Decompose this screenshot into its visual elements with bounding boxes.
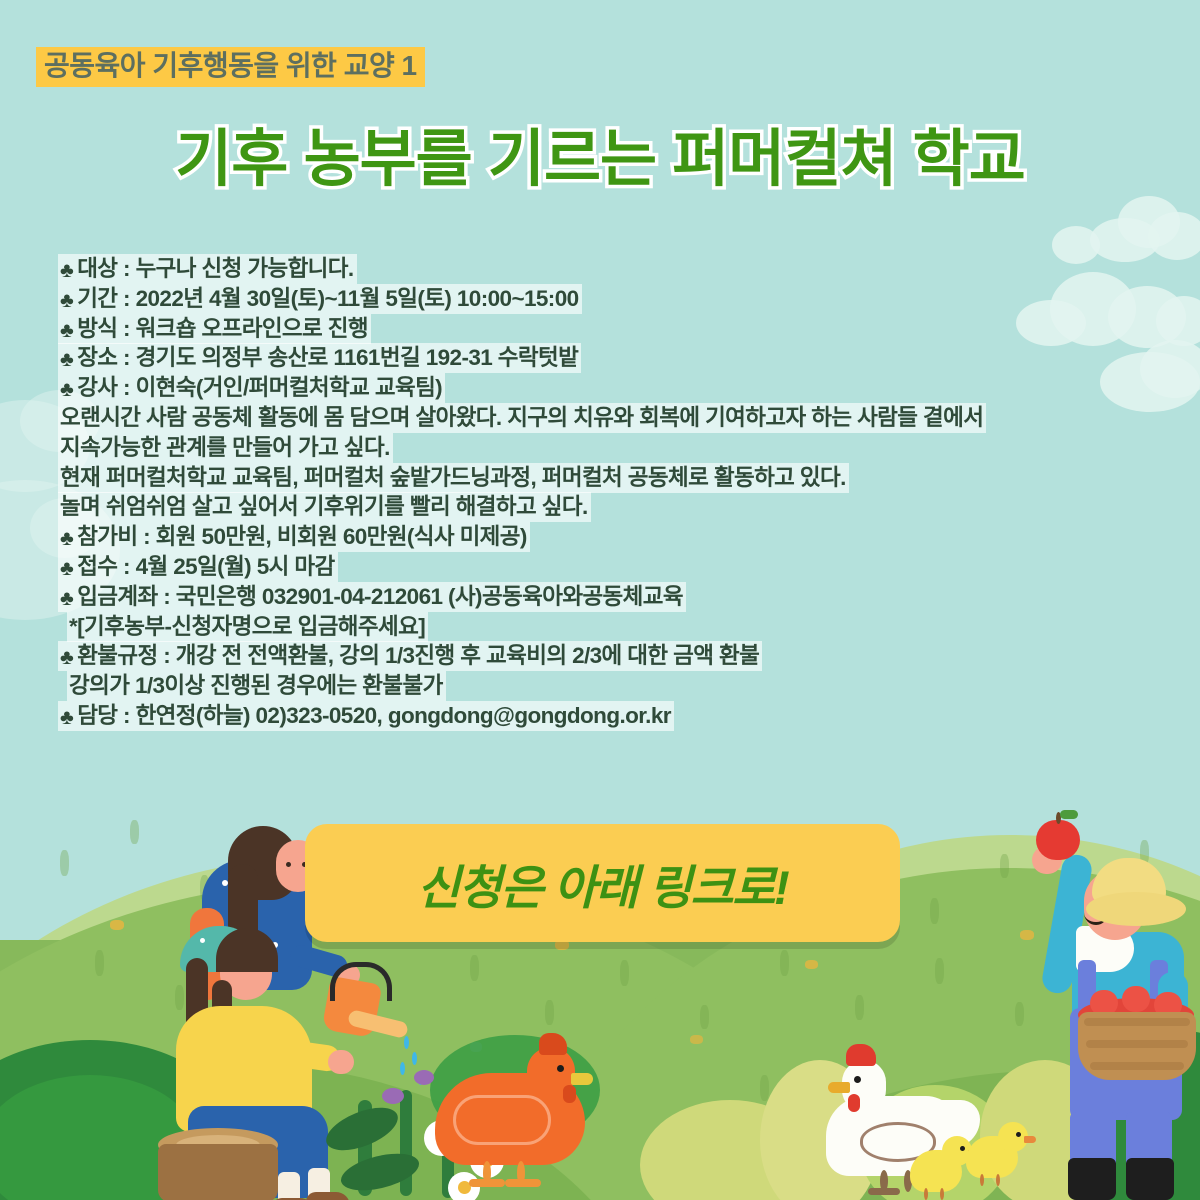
detail-line-text: 강의가 1/3이상 진행된 경우에는 환불불가 <box>69 673 443 698</box>
page-title: 기후 농부를 기르는 퍼머컬쳐 학교 <box>0 108 1200 198</box>
detail-line: ♣장소 : 경기도 의정부 송산로 1161번길 192-31 수락텃밭 <box>58 347 1168 370</box>
club-bullet-icon: ♣ <box>60 290 73 311</box>
detail-line-text: 기간 : 2022년 4월 30일(토)~11월 5일(토) 10:00~15:… <box>77 286 578 311</box>
club-bullet-icon: ♣ <box>60 349 73 370</box>
detail-line-text: 환불규정 : 개강 전 전액환불, 강의 1/3진행 후 교육비의 2/3에 대… <box>77 643 759 668</box>
detail-line-highlight: 현재 퍼머컬처학교 교육팀, 퍼머컬처 숲밭가드닝과정, 퍼머컬처 공동체로 활… <box>58 463 849 493</box>
detail-line-highlight: ♣강사 : 이현숙(거인/퍼머컬처학교 교육팀) <box>58 373 445 403</box>
detail-line-text: *[기후농부-신청자명으로 입금해주세요] <box>69 614 425 639</box>
kicker-label: 공동육아 기후행동을 위한 교양 1 <box>36 47 425 87</box>
illustration-orange-chicken <box>435 1043 610 1188</box>
detail-line: 강의가 1/3이상 진행된 경우에는 환불불가 <box>67 675 1168 698</box>
detail-line: ♣담당 : 한연정(하늘) 02)323-0520, gongdong@gong… <box>58 705 1168 728</box>
club-bullet-icon: ♣ <box>60 320 73 341</box>
detail-line: ♣입금계좌 : 국민은행 032901-04-212061 (사)공동육아와공동… <box>58 586 1168 609</box>
detail-line-text: 접수 : 4월 25일(월) 5시 마감 <box>77 554 334 579</box>
detail-line-highlight: ♣기간 : 2022년 4월 30일(토)~11월 5일(토) 10:00~15… <box>58 284 582 314</box>
detail-line-highlight: *[기후농부-신청자명으로 입금해주세요] <box>67 612 428 642</box>
apply-link-button[interactable]: 신청은 아래 링크로! <box>305 824 900 942</box>
detail-line-highlight: ♣참가비 : 회원 50만원, 비회원 60만원(식사 미제공) <box>58 522 530 552</box>
detail-line: ♣강사 : 이현숙(거인/퍼머컬처학교 교육팀) <box>58 377 1168 400</box>
club-bullet-icon: ♣ <box>60 647 73 668</box>
detail-line-highlight: ♣담당 : 한연정(하늘) 02)323-0520, gongdong@gong… <box>58 701 674 731</box>
club-bullet-icon: ♣ <box>60 558 73 579</box>
detail-line: ♣참가비 : 회원 50만원, 비회원 60만원(식사 미제공) <box>58 526 1168 549</box>
detail-line: ♣기간 : 2022년 4월 30일(토)~11월 5일(토) 10:00~15… <box>58 288 1168 311</box>
apply-link-label: 신청은 아래 링크로! <box>417 849 788 918</box>
detail-line-highlight: 놀며 쉬엄쉬엄 살고 싶어서 기후위기를 빨리 해결하고 싶다. <box>58 492 591 522</box>
detail-line: *[기후농부-신청자명으로 입금해주세요] <box>67 616 1168 639</box>
detail-line-highlight: ♣대상 : 누구나 신청 가능합니다. <box>58 254 357 284</box>
detail-line-highlight: ♣방식 : 워크숍 오프라인으로 진행 <box>58 314 371 344</box>
detail-line: 현재 퍼머컬처학교 교육팀, 퍼머컬처 숲밭가드닝과정, 퍼머컬처 공동체로 활… <box>58 467 1168 490</box>
club-bullet-icon: ♣ <box>60 528 73 549</box>
detail-line-highlight: 강의가 1/3이상 진행된 경우에는 환불불가 <box>67 671 446 701</box>
club-bullet-icon: ♣ <box>60 707 73 728</box>
detail-line: 놀며 쉬엄쉬엄 살고 싶어서 기후위기를 빨리 해결하고 싶다. <box>58 496 1168 519</box>
detail-line-text: 담당 : 한연정(하늘) 02)323-0520, gongdong@gongd… <box>77 703 671 728</box>
club-bullet-icon: ♣ <box>60 379 73 400</box>
detail-line-text: 오랜시간 사람 공동체 활동에 몸 담으며 살아왔다. 지구의 치유와 회복에 … <box>60 405 983 430</box>
poster-root: 공동육아 기후행동을 위한 교양 1 기후 농부를 기르는 퍼머컬쳐 학교 ♣대… <box>0 0 1200 1200</box>
detail-line-text: 대상 : 누구나 신청 가능합니다. <box>77 256 353 281</box>
detail-line: ♣대상 : 누구나 신청 가능합니다. <box>58 258 1168 281</box>
detail-line-text: 방식 : 워크숍 오프라인으로 진행 <box>77 316 368 341</box>
illustration-tree-stump <box>158 1128 278 1200</box>
detail-line-text: 지속가능한 관계를 만들어 가고 싶다. <box>60 435 390 460</box>
detail-line-text: 놀며 쉬엄쉬엄 살고 싶어서 기후위기를 빨리 해결하고 싶다. <box>60 494 588 519</box>
detail-line-highlight: 오랜시간 사람 공동체 활동에 몸 담으며 살아왔다. 지구의 치유와 회복에 … <box>58 403 986 433</box>
detail-line: ♣접수 : 4월 25일(월) 5시 마감 <box>58 556 1168 579</box>
detail-line-text: 현재 퍼머컬처학교 교육팀, 퍼머컬처 숲밭가드닝과정, 퍼머컬처 공동체로 활… <box>60 465 846 490</box>
detail-line: ♣환불규정 : 개강 전 전액환불, 강의 1/3진행 후 교육비의 2/3에 … <box>58 645 1168 668</box>
detail-line-text: 장소 : 경기도 의정부 송산로 1161번길 192-31 수락텃밭 <box>77 345 578 370</box>
detail-line: 오랜시간 사람 공동체 활동에 몸 담으며 살아왔다. 지구의 치유와 회복에 … <box>58 407 1168 430</box>
detail-line-highlight: ♣환불규정 : 개강 전 전액환불, 강의 1/3진행 후 교육비의 2/3에 … <box>58 641 762 671</box>
detail-line: ♣방식 : 워크숍 오프라인으로 진행 <box>58 318 1168 341</box>
detail-line-text: 참가비 : 회원 50만원, 비회원 60만원(식사 미제공) <box>77 524 527 549</box>
illustration-farmer <box>1000 812 1200 1200</box>
detail-line-highlight: ♣입금계좌 : 국민은행 032901-04-212061 (사)공동육아와공동… <box>58 582 686 612</box>
detail-line-text: 입금계좌 : 국민은행 032901-04-212061 (사)공동육아와공동체… <box>77 584 683 609</box>
detail-list: ♣대상 : 누구나 신청 가능합니다.♣기간 : 2022년 4월 30일(토)… <box>58 258 1168 735</box>
detail-line: 지속가능한 관계를 만들어 가고 싶다. <box>58 437 1168 460</box>
detail-line-text: 강사 : 이현숙(거인/퍼머컬처학교 교육팀) <box>77 375 442 400</box>
detail-line-highlight: ♣접수 : 4월 25일(월) 5시 마감 <box>58 552 338 582</box>
detail-line-highlight: ♣장소 : 경기도 의정부 송산로 1161번길 192-31 수락텃밭 <box>58 343 581 373</box>
club-bullet-icon: ♣ <box>60 260 73 281</box>
detail-line-highlight: 지속가능한 관계를 만들어 가고 싶다. <box>58 433 393 463</box>
club-bullet-icon: ♣ <box>60 588 73 609</box>
